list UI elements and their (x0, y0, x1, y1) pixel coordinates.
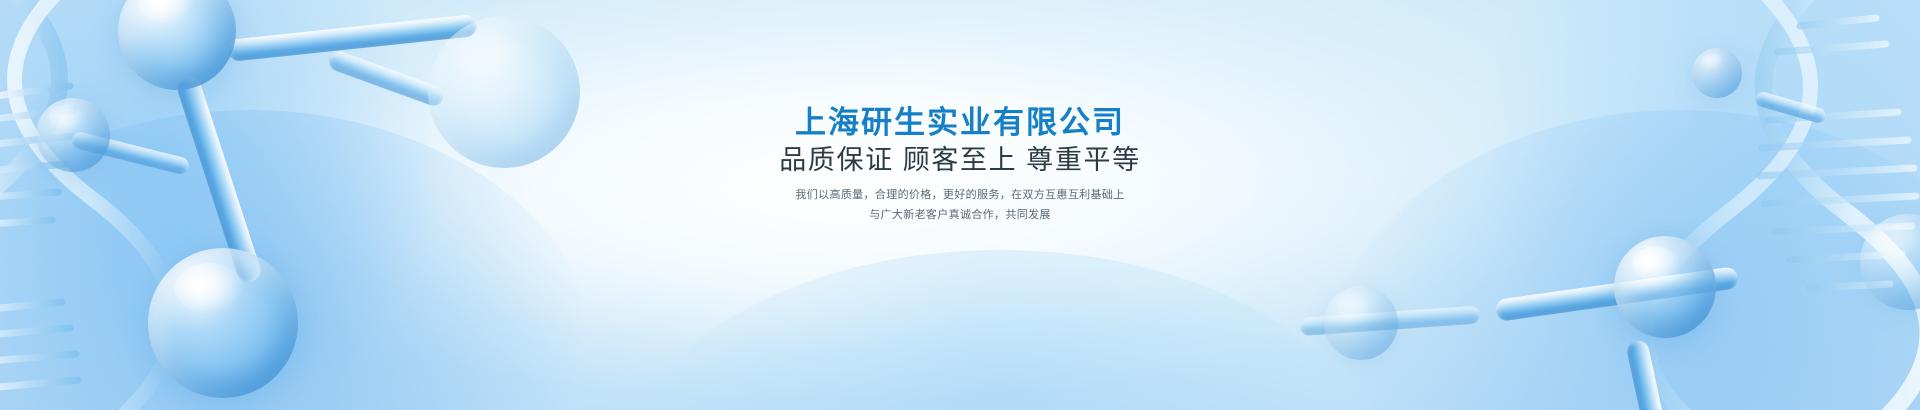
company-description: 我们以高质量，合理的价格，更好的服务，在双方互惠互利基础上 与广大新老客户真诚合… (0, 185, 1920, 225)
molecule-bond (1625, 339, 1669, 410)
molecule-bond (1494, 266, 1739, 322)
molecule-bond (227, 14, 478, 62)
molecule-sphere (118, 0, 236, 90)
molecule-sphere (1860, 214, 1920, 310)
molecule-sphere (1324, 286, 1398, 360)
molecule-bond (327, 49, 447, 109)
molecule-sphere (1614, 236, 1716, 338)
molecule-sphere (1692, 48, 1742, 98)
description-line: 与广大新老客户真诚合作，共同发展 (0, 205, 1920, 225)
molecule-sphere (148, 248, 298, 398)
background-glow (620, 250, 1380, 410)
molecule-bond (1299, 305, 1480, 336)
company-hero-banner: 上海研生实业有限公司 品质保证 顾客至上 尊重平等 我们以高质量，合理的价格，更… (0, 0, 1920, 410)
company-slogan-subtitle: 品质保证 顾客至上 尊重平等 (0, 145, 1920, 176)
banner-text-block: 上海研生实业有限公司 品质保证 顾客至上 尊重平等 我们以高质量，合理的价格，更… (0, 105, 1920, 225)
company-name-headline: 上海研生实业有限公司 (0, 105, 1920, 140)
description-line: 我们以高质量，合理的价格，更好的服务，在双方互惠互利基础上 (0, 185, 1920, 205)
